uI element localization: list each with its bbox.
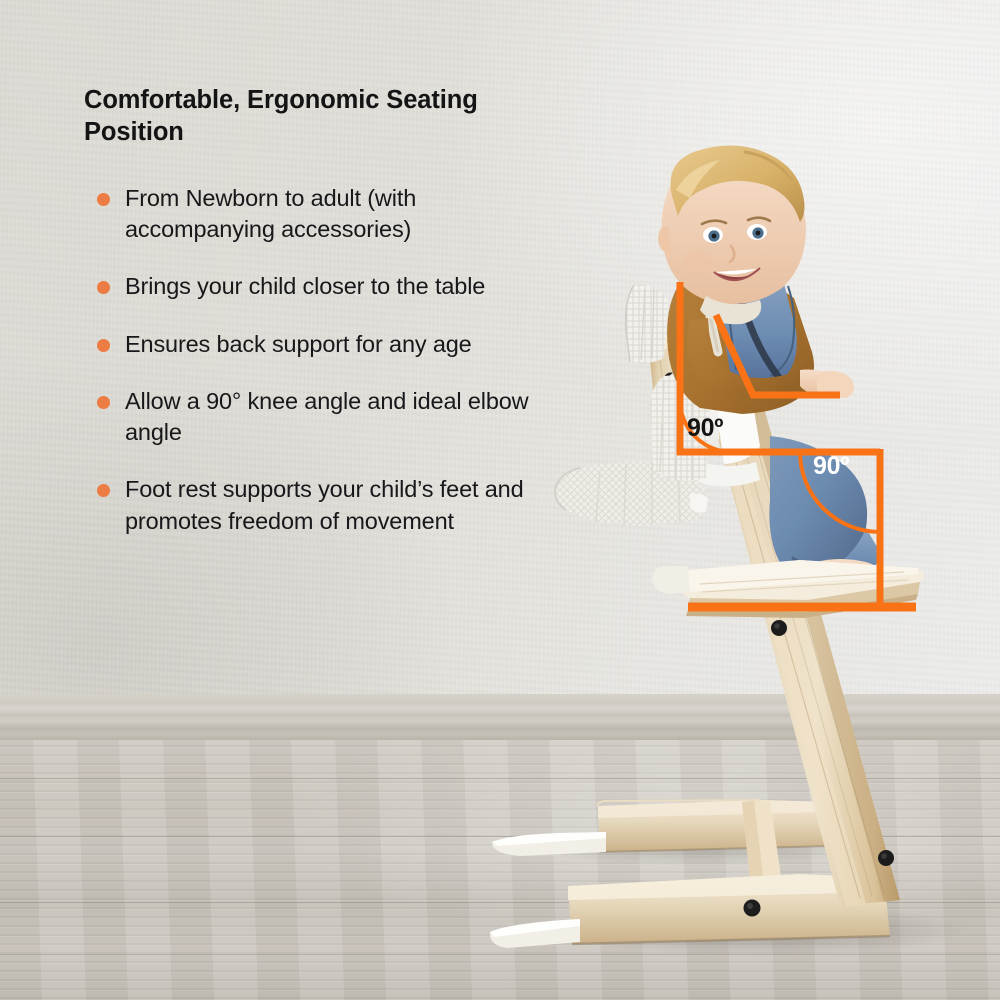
- bullet-dot-icon: [97, 193, 110, 206]
- list-item: Foot rest supports your child’s feet and…: [84, 474, 554, 537]
- knee-angle-label: 90º: [813, 452, 849, 481]
- bullet-dot-icon: [97, 281, 110, 294]
- list-item: Allow a 90° knee angle and ideal elbow a…: [84, 386, 554, 449]
- bullet-dot-icon: [97, 484, 110, 497]
- list-item-label: From Newborn to adult (with accompanying…: [125, 185, 416, 242]
- scene-canvas: Comfortable, Ergonomic Seating Position …: [0, 0, 1000, 1000]
- list-item-label: Ensures back support for any age: [125, 331, 472, 357]
- list-item: Brings your child closer to the table: [84, 271, 554, 302]
- page-title: Comfortable, Ergonomic Seating Position: [84, 84, 554, 149]
- bullet-dot-icon: [97, 396, 110, 409]
- baseboard-trim: [0, 694, 1000, 742]
- floor-texture: [0, 740, 1000, 1000]
- bullet-dot-icon: [97, 339, 110, 352]
- background-floor: [0, 740, 1000, 1000]
- text-panel: Comfortable, Ergonomic Seating Position …: [84, 84, 554, 563]
- list-item: Ensures back support for any age: [84, 329, 554, 360]
- list-item: From Newborn to adult (with accompanying…: [84, 183, 554, 246]
- list-item-label: Brings your child closer to the table: [125, 273, 485, 299]
- list-item-label: Allow a 90° knee angle and ideal elbow a…: [125, 388, 529, 445]
- hip-angle-label: 90º: [687, 414, 723, 443]
- list-item-label: Foot rest supports your child’s feet and…: [125, 476, 524, 533]
- benefits-list: From Newborn to adult (with accompanying…: [84, 183, 554, 537]
